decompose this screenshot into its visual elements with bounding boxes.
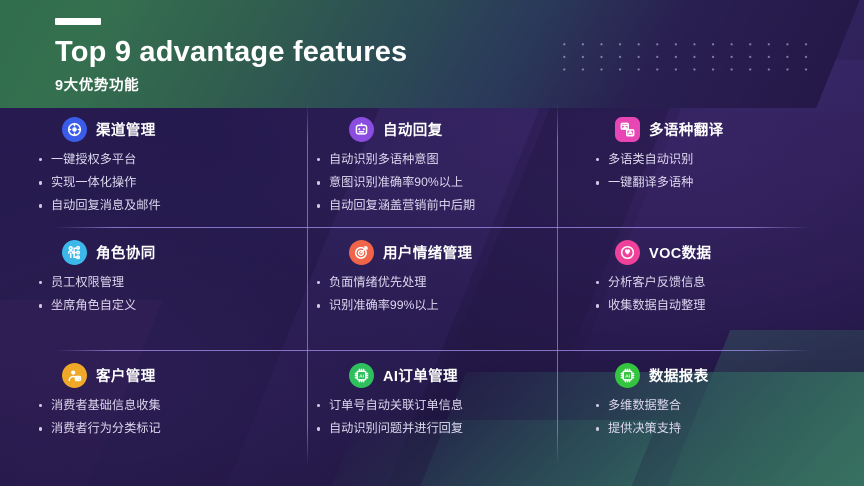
feature-grid: 渠道管理一键授权多平台实现一体化操作自动回复消息及邮件自动回复自动识别多语种意图… xyxy=(0,104,864,476)
svg-text:AI: AI xyxy=(625,373,631,379)
dot-grid-icon xyxy=(555,38,823,80)
feature-title: 角色协同 xyxy=(96,242,156,263)
feature-card-header: 多语种翻译 xyxy=(615,117,864,142)
feature-card[interactable]: 自动回复自动识别多语种意图意图识别准确率90%以上自动回复涵盖营销前中后期 xyxy=(307,104,557,227)
feature-card[interactable]: AIAI订单管理订单号自动关联订单信息自动识别问题并进行回复 xyxy=(307,350,557,476)
robot-icon xyxy=(349,117,374,142)
feature-bullet-item: 自动回复消息及邮件 xyxy=(38,199,307,211)
feature-title: VOC数据 xyxy=(649,242,711,263)
feature-bullet-list: 自动识别多语种意图意图识别准确率90%以上自动回复涵盖营销前中后期 xyxy=(316,153,557,223)
feature-title: 用户情绪管理 xyxy=(383,242,472,263)
feature-bullet-item: 多语类自动识别 xyxy=(595,153,864,165)
ai-chip-icon: AI xyxy=(615,363,640,388)
feature-bullet-item: 自动回复涵盖营销前中后期 xyxy=(316,199,557,211)
feature-bullet-item: 负面情绪优先处理 xyxy=(316,276,557,288)
feature-bullet-item: 收集数据自动整理 xyxy=(595,299,864,311)
feature-bullet-item: 自动识别问题并进行回复 xyxy=(316,422,557,434)
feature-card-header: VOC数据 xyxy=(615,240,864,265)
voc-heart-icon xyxy=(615,240,640,265)
feature-bullet-item: 坐席角色自定义 xyxy=(38,299,307,311)
feature-bullet-item: 消费者行为分类标记 xyxy=(38,422,307,434)
feature-bullet-item: 自动识别多语种意图 xyxy=(316,153,557,165)
feature-card[interactable]: VOC数据分析客户反馈信息收集数据自动整理 xyxy=(557,227,864,350)
feature-card[interactable]: 渠道管理一键授权多平台实现一体化操作自动回复消息及邮件 xyxy=(0,104,307,227)
feature-card-header: 渠道管理 xyxy=(62,117,307,142)
feature-card-header: 角色协同 xyxy=(62,240,307,265)
svg-text:AI: AI xyxy=(359,373,365,379)
feature-card-header: 客户管理 xyxy=(62,363,307,388)
feature-bullet-item: 分析客户反馈信息 xyxy=(595,276,864,288)
ai-chip-icon: AI xyxy=(349,363,374,388)
feature-card-header: AI数据报表 xyxy=(615,363,864,388)
feature-title: 自动回复 xyxy=(383,119,443,140)
feature-bullet-list: 员工权限管理坐席角色自定义 xyxy=(38,276,307,322)
feature-title: 数据报表 xyxy=(649,365,709,386)
feature-card[interactable]: 角色协同员工权限管理坐席角色自定义 xyxy=(0,227,307,350)
feature-title: 客户管理 xyxy=(96,365,156,386)
feature-bullet-item: 识别准确率99%以上 xyxy=(316,299,557,311)
feature-title: 渠道管理 xyxy=(96,119,156,140)
page-title: Top 9 advantage features xyxy=(55,37,407,67)
feature-bullet-item: 员工权限管理 xyxy=(38,276,307,288)
customer-icon xyxy=(62,363,87,388)
feature-card[interactable]: 用户情绪管理负面情绪优先处理识别准确率99%以上 xyxy=(307,227,557,350)
feature-card[interactable]: 多语种翻译多语类自动识别一键翻译多语种 xyxy=(557,104,864,227)
feature-card[interactable]: 客户管理消费者基础信息收集消费者行为分类标记 xyxy=(0,350,307,476)
channel-icon xyxy=(62,117,87,142)
feature-bullet-list: 消费者基础信息收集消费者行为分类标记 xyxy=(38,399,307,445)
feature-title: AI订单管理 xyxy=(383,365,458,386)
feature-title: 多语种翻译 xyxy=(649,119,724,140)
feature-card-header: AIAI订单管理 xyxy=(349,363,557,388)
accent-rule xyxy=(55,18,101,25)
feature-card-header: 自动回复 xyxy=(349,117,557,142)
feature-bullet-item: 消费者基础信息收集 xyxy=(38,399,307,411)
feature-bullet-list: 负面情绪优先处理识别准确率99%以上 xyxy=(316,276,557,322)
feature-card[interactable]: AI数据报表多维数据整合提供决策支持 xyxy=(557,350,864,476)
feature-bullet-list: 订单号自动关联订单信息自动识别问题并进行回复 xyxy=(316,399,557,445)
feature-bullet-item: 实现一体化操作 xyxy=(38,176,307,188)
feature-bullet-list: 分析客户反馈信息收集数据自动整理 xyxy=(595,276,864,322)
feature-bullet-list: 多维数据整合提供决策支持 xyxy=(595,399,864,445)
feature-bullet-list: 一键授权多平台实现一体化操作自动回复消息及邮件 xyxy=(38,153,307,223)
feature-bullet-item: 一键授权多平台 xyxy=(38,153,307,165)
translate-icon xyxy=(615,117,640,142)
people-network-icon xyxy=(62,240,87,265)
feature-bullet-item: 一键翻译多语种 xyxy=(595,176,864,188)
slide-root: Top 9 advantage features 9大优势功能 渠道管理一键授权… xyxy=(0,0,864,486)
target-icon xyxy=(349,240,374,265)
feature-bullet-item: 多维数据整合 xyxy=(595,399,864,411)
feature-card-header: 用户情绪管理 xyxy=(349,240,557,265)
feature-bullet-item: 意图识别准确率90%以上 xyxy=(316,176,557,188)
page-subtitle: 9大优势功能 xyxy=(55,74,407,95)
feature-bullet-item: 订单号自动关联订单信息 xyxy=(316,399,557,411)
page-header: Top 9 advantage features 9大优势功能 xyxy=(55,18,407,95)
feature-bullet-list: 多语类自动识别一键翻译多语种 xyxy=(595,153,864,199)
feature-bullet-item: 提供决策支持 xyxy=(595,422,864,434)
